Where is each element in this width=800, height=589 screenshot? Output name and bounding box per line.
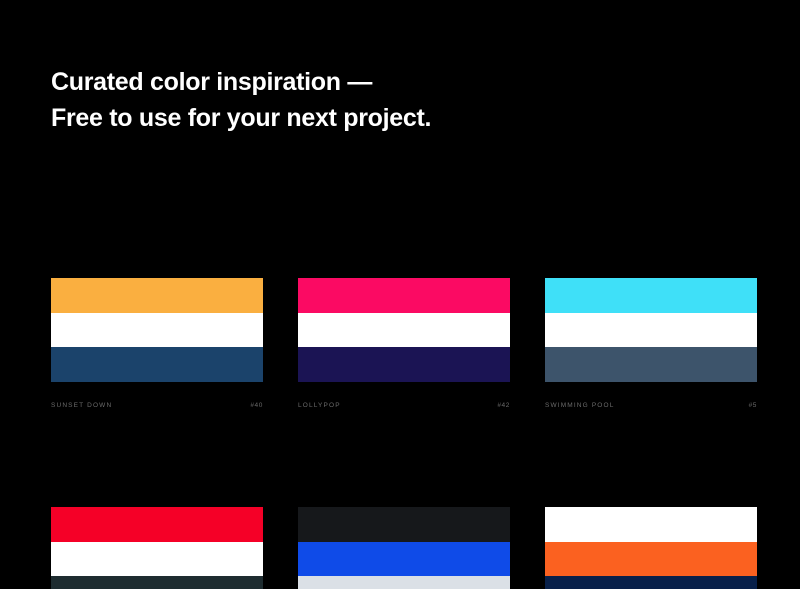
palette-band[interactable] <box>298 347 510 382</box>
palette-band[interactable] <box>545 278 757 313</box>
palette-number: #5 <box>749 402 757 409</box>
palette-band[interactable] <box>51 576 263 589</box>
palette-band[interactable] <box>298 278 510 313</box>
palette-number: #42 <box>497 402 510 409</box>
palette-swatch-stack[interactable] <box>298 507 510 589</box>
palette-band[interactable] <box>51 347 263 382</box>
palette-swatch-stack[interactable] <box>545 507 757 589</box>
palette-band[interactable] <box>298 313 510 348</box>
palette-card[interactable] <box>51 507 263 589</box>
palette-name: SUNSET DOWN <box>51 402 112 409</box>
palette-swatch-stack[interactable] <box>298 278 510 382</box>
palette-band[interactable] <box>545 313 757 348</box>
page-headline: Curated color inspiration — Free to use … <box>51 64 651 136</box>
palette-gallery-page: Curated color inspiration — Free to use … <box>0 0 800 589</box>
palette-band[interactable] <box>298 542 510 577</box>
headline-line-1: Curated color inspiration — <box>51 64 651 100</box>
palette-card[interactable]: SWIMMING POOL #5 <box>545 278 757 409</box>
headline-line-2: Free to use for your next project. <box>51 100 651 136</box>
palette-band[interactable] <box>51 507 263 542</box>
palette-band[interactable] <box>51 278 263 313</box>
palette-card[interactable] <box>545 507 757 589</box>
palette-band[interactable] <box>298 507 510 542</box>
palette-band[interactable] <box>545 347 757 382</box>
palette-swatch-stack[interactable] <box>545 278 757 382</box>
palette-card[interactable]: SUNSET DOWN #40 <box>51 278 263 409</box>
palette-caption: SWIMMING POOL #5 <box>545 402 757 409</box>
palette-band[interactable] <box>545 542 757 577</box>
palette-band[interactable] <box>545 576 757 589</box>
palette-number: #40 <box>250 402 263 409</box>
palette-band[interactable] <box>545 507 757 542</box>
palette-name: LOLLYPOP <box>298 402 341 409</box>
palette-caption: LOLLYPOP #42 <box>298 402 510 409</box>
palette-grid: SUNSET DOWN #40 LOLLYPOP #42 SWIMMIN <box>51 278 757 589</box>
palette-swatch-stack[interactable] <box>51 278 263 382</box>
palette-card[interactable]: LOLLYPOP #42 <box>298 278 510 409</box>
palette-name: SWIMMING POOL <box>545 402 614 409</box>
palette-caption: SUNSET DOWN #40 <box>51 402 263 409</box>
palette-band[interactable] <box>298 576 510 589</box>
palette-card[interactable] <box>298 507 510 589</box>
palette-band[interactable] <box>51 542 263 577</box>
palette-band[interactable] <box>51 313 263 348</box>
palette-swatch-stack[interactable] <box>51 507 263 589</box>
